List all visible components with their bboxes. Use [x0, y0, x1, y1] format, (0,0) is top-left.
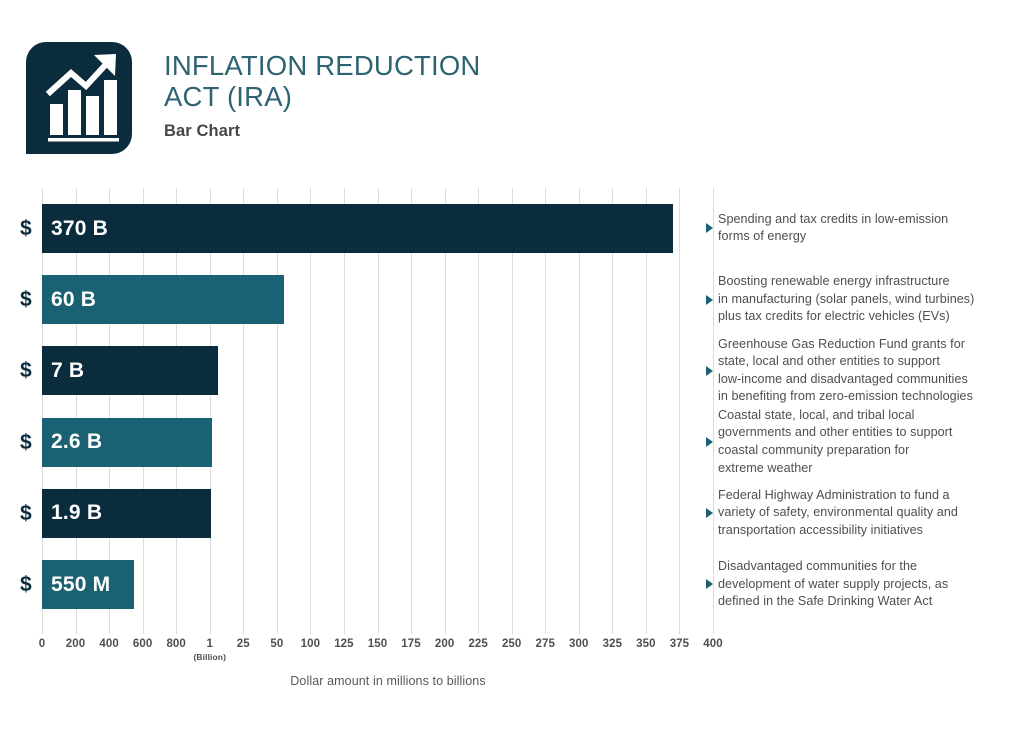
- x-tick-label: 100: [301, 638, 321, 650]
- gridline: [277, 188, 278, 634]
- gridline: [411, 188, 412, 634]
- x-axis-caption: Dollar amount in millions to billions: [0, 674, 776, 688]
- x-tick-label: 375: [670, 638, 690, 650]
- x-tick-label: 200: [66, 638, 86, 650]
- x-tick-label: 0: [39, 638, 46, 650]
- x-tick-label: 800: [166, 638, 186, 650]
- description-item: Greenhouse Gas Reduction Fund grants for…: [706, 336, 973, 406]
- descriptions-column: Spending and tax credits in low-emission…: [706, 188, 1024, 634]
- currency-symbol: $: [20, 275, 32, 324]
- description-item: Disadvantaged communities for the develo…: [706, 558, 948, 611]
- gridline: [478, 188, 479, 634]
- arrow-right-icon: [706, 579, 713, 589]
- description-item: Spending and tax credits in low-emission…: [706, 211, 948, 246]
- x-tick-label: 300: [569, 638, 589, 650]
- gridline: [344, 188, 345, 634]
- gridline: [143, 188, 144, 634]
- bar-value-label: 2.6 B: [51, 430, 102, 454]
- x-tick-label: 225: [468, 638, 488, 650]
- x-tick-label: 150: [368, 638, 388, 650]
- x-tick-label: 400: [703, 638, 723, 650]
- arrow-right-icon: [706, 437, 713, 447]
- bar[interactable]: 2.6 B: [42, 418, 212, 467]
- gridline: [579, 188, 580, 634]
- x-tick-label: 350: [636, 638, 656, 650]
- currency-symbol: $: [20, 204, 32, 253]
- x-tick-label: 600: [133, 638, 153, 650]
- x-tick: 400: [690, 638, 736, 650]
- bar[interactable]: 1.9 B: [42, 489, 211, 538]
- bar[interactable]: 550 M: [42, 560, 134, 609]
- x-tick-label: 1: [207, 638, 214, 650]
- gridline: [612, 188, 613, 634]
- arrow-right-icon: [706, 223, 713, 233]
- x-tick-label: 200: [435, 638, 455, 650]
- gridline: [176, 188, 177, 634]
- currency-symbol: $: [20, 560, 32, 609]
- x-tick-label: 250: [502, 638, 522, 650]
- description-item: Coastal state, local, and tribal local g…: [706, 407, 952, 477]
- description-item: Boosting renewable energy infrastructure…: [706, 273, 974, 326]
- arrow-right-icon: [706, 366, 713, 376]
- currency-symbol: $: [20, 418, 32, 467]
- bar-value-label: 7 B: [51, 359, 84, 383]
- currency-symbol: $: [20, 346, 32, 395]
- bar[interactable]: 60 B: [42, 275, 284, 324]
- gridline: [512, 188, 513, 634]
- bar-chart: $370 B$60 B$7 B$2.6 B$1.9 B$550 M 020040…: [0, 0, 1024, 732]
- x-tick-label: 400: [99, 638, 119, 650]
- description-text: Greenhouse Gas Reduction Fund grants for…: [718, 336, 973, 406]
- description-text: Spending and tax credits in low-emission…: [718, 211, 948, 246]
- description-item: Federal Highway Administration to fund a…: [706, 487, 958, 540]
- currency-symbol: $: [20, 489, 32, 538]
- x-tick-label: 175: [401, 638, 421, 650]
- gridline: [646, 188, 647, 634]
- x-tick-label: 125: [334, 638, 354, 650]
- gridline: [679, 188, 680, 634]
- gridline: [310, 188, 311, 634]
- x-tick-label: 325: [603, 638, 623, 650]
- x-tick-label: 25: [237, 638, 250, 650]
- bar-value-label: 550 M: [51, 573, 110, 597]
- gridline: [378, 188, 379, 634]
- x-tick-label: 50: [270, 638, 283, 650]
- bar[interactable]: 7 B: [42, 346, 218, 395]
- gridline: [445, 188, 446, 634]
- description-text: Federal Highway Administration to fund a…: [718, 487, 958, 540]
- x-tick-unit-note: (Billion): [187, 652, 233, 662]
- bar-value-label: 60 B: [51, 288, 96, 312]
- x-tick-label: 275: [536, 638, 556, 650]
- bar-value-label: 370 B: [51, 217, 108, 241]
- arrow-right-icon: [706, 508, 713, 518]
- gridline: [210, 188, 211, 634]
- description-text: Coastal state, local, and tribal local g…: [718, 407, 952, 477]
- bar-value-label: 1.9 B: [51, 501, 102, 525]
- gridline: [545, 188, 546, 634]
- gridline: [243, 188, 244, 634]
- description-text: Disadvantaged communities for the develo…: [718, 558, 948, 611]
- bar[interactable]: 370 B: [42, 204, 673, 253]
- description-text: Boosting renewable energy infrastructure…: [718, 273, 974, 326]
- arrow-right-icon: [706, 295, 713, 305]
